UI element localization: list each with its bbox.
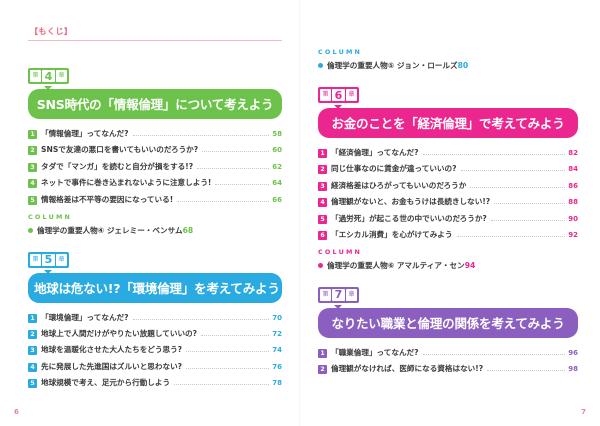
column-page: 94 — [465, 261, 476, 270]
entry-number: 4 — [318, 198, 327, 207]
chapter-badge-number: 5 — [42, 254, 55, 266]
entry-leader-dots — [461, 170, 566, 171]
entry-title: 同じ仕事なのに賃金が違っていいの? — [331, 163, 457, 174]
chapter-badge-tail — [334, 305, 342, 309]
entry-page: 66 — [272, 196, 282, 204]
entry-title: 地球を温暖化させた大人たちをどう思う? — [41, 344, 182, 355]
entry-leader-dots — [215, 184, 269, 185]
column-entry[interactable]: 倫理学の重要人物④ ジェレミー・ベンサム 68 — [28, 225, 282, 236]
toc-entry[interactable]: 5 「過労死」が起こる世の中でいいのだろうか? 90 — [318, 213, 578, 224]
entry-number: 1 — [318, 149, 327, 158]
entry-leader-dots — [186, 368, 269, 369]
entry-title: SNSで友達の悪口を書いてもいいのだろうか? — [41, 144, 198, 155]
entry-number: 5 — [318, 215, 327, 224]
entry-title: ネットで事件に巻き込まれないように注意しよう! — [41, 177, 211, 188]
entry-page: 62 — [272, 163, 282, 171]
chapter-badge-6: 第 6 章 — [318, 81, 359, 105]
column-title: 倫理学の重要人物⑤ ジョン・ロールズ — [327, 60, 458, 71]
column-bullet-icon — [28, 228, 33, 233]
entry-title: 「職業倫理」ってなんだ? — [331, 347, 419, 358]
entry-page: 84 — [568, 165, 578, 173]
entry-number: 1 — [318, 349, 327, 358]
chapter-badge-number: 6 — [332, 89, 345, 101]
entry-leader-dots — [423, 354, 566, 355]
column-page: 68 — [183, 226, 194, 235]
chapter-badge-suffix: 章 — [56, 254, 67, 266]
entry-number: 4 — [28, 179, 37, 188]
entry-page: 92 — [568, 231, 578, 239]
entry-title: 地球規模で考え、足元から行動しよう — [41, 377, 170, 388]
entry-title: 「過労死」が起こる世の中でいいのだろうか? — [331, 213, 487, 224]
toc-entry[interactable]: 1 「環境倫理」ってなんだ? 70 — [28, 312, 282, 323]
chapter-entries-7: 1 「職業倫理」ってなんだ? 96 2 倫理観がなければ、医師になる資格はない!… — [318, 347, 578, 374]
column-label: COLUMN — [318, 248, 578, 256]
entry-title: 情報格差は不平等の要因になっている! — [41, 194, 173, 205]
entry-number: 6 — [318, 231, 327, 240]
entry-page: 58 — [272, 130, 282, 138]
entry-title: 「経済倫理」ってなんだ? — [331, 147, 419, 158]
chapter-badge-4: 第 4 章 — [28, 62, 69, 86]
chapter-badge-inner-7: 第 7 章 — [318, 287, 359, 303]
entry-title: 「情報倫理」ってなんだ? — [41, 128, 129, 139]
entry-page: 96 — [568, 349, 578, 357]
top-column-block: COLUMN 倫理学の重要人物⑤ ジョン・ロールズ 80 — [318, 48, 578, 71]
chapter-badge-prefix: 第 — [320, 289, 331, 301]
entry-page: 72 — [272, 330, 282, 338]
column-bullet-icon — [318, 63, 323, 68]
chapter-badge-inner-4: 第 4 章 — [28, 68, 69, 84]
entry-number: 2 — [318, 165, 327, 174]
chapter-entries-5: 1 「環境倫理」ってなんだ? 70 2 地球上で人間だけがやりたい放題していいの… — [28, 312, 282, 389]
chapter-badge-suffix: 章 — [56, 70, 67, 82]
entry-page: 74 — [272, 346, 282, 354]
entry-number: 2 — [318, 365, 327, 374]
entry-title: 先に発展した先進国はズルいと思わない? — [41, 361, 182, 372]
chapter-block-4: 第 4 章 SNS時代の「情報倫理」について考えよう 1 「情報倫理」ってなんだ… — [28, 62, 282, 236]
entry-leader-dots — [491, 220, 565, 221]
entry-page: 64 — [272, 179, 282, 187]
column-label: COLUMN — [28, 213, 282, 221]
column-entry[interactable]: 倫理学の重要人物⑤ ジョン・ロールズ 80 — [318, 60, 578, 71]
chapter-badge-tail — [44, 270, 52, 274]
entry-number: 2 — [28, 330, 37, 339]
entry-page: 88 — [568, 198, 578, 206]
entry-leader-dots — [202, 151, 269, 152]
chapter-block-5: 第 5 章 地球は危ない!?「環境倫理」を考えてみよう 1 「環境倫理」ってなん… — [28, 246, 282, 389]
chapter-badge-prefix: 第 — [30, 70, 41, 82]
entry-title: 経済格差はひろがってもいいのだろうか — [331, 180, 466, 191]
entry-leader-dots — [197, 168, 269, 169]
chapter-badge-5: 第 5 章 — [28, 246, 69, 270]
column-title: 倫理学の重要人物④ ジェレミー・ベンサム — [37, 225, 183, 236]
entry-title: タダで「マンガ」を読むと自分が損をする!? — [41, 161, 193, 172]
chapter-entries-6: 1 「経済倫理」ってなんだ? 82 2 同じ仕事なのに賃金が違っていいの? 84… — [318, 147, 578, 240]
entry-page: 86 — [568, 182, 578, 190]
entry-leader-dots — [133, 319, 270, 320]
entry-leader-dots — [487, 370, 565, 371]
toc-entry[interactable]: 1 「情報倫理」ってなんだ? 58 — [28, 128, 282, 139]
column-page: 80 — [458, 61, 469, 70]
toc-entry[interactable]: 3 タダで「マンガ」を読むと自分が損をする!? 62 — [28, 161, 282, 172]
entry-number: 5 — [28, 379, 37, 388]
entry-leader-dots — [177, 201, 269, 202]
chapter-badge-tail — [44, 86, 52, 90]
entry-leader-dots — [174, 384, 269, 385]
toc-entry[interactable]: 6 「エシカル消費」を心がけてみよう 92 — [318, 229, 578, 240]
chapter-title-7: なりたい職業と倫理の関係を考えてみよう — [318, 308, 578, 338]
page-gutter — [299, 0, 301, 426]
entry-leader-dots — [201, 335, 269, 336]
chapter-badge-prefix: 第 — [30, 254, 41, 266]
chapter-title-6: お金のことを「経済倫理」で考えてみよう — [318, 108, 578, 138]
chapter-badge-prefix: 第 — [320, 89, 331, 101]
entry-leader-dots — [186, 351, 269, 352]
chapter-badge-7: 第 7 章 — [318, 281, 359, 305]
toc-entry[interactable]: 3 地球を温暖化させた大人たちをどう思う? 74 — [28, 344, 282, 355]
entry-number: 1 — [28, 130, 37, 139]
chapter-entries-4: 1 「情報倫理」ってなんだ? 58 2 SNSで友達の悪口を書いてもいいのだろう… — [28, 128, 282, 205]
toc-entry[interactable]: 2 SNSで友達の悪口を書いてもいいのだろうか? 60 — [28, 144, 282, 155]
entry-page: 70 — [272, 314, 282, 322]
chapter-block-6: 第 6 章 お金のことを「経済倫理」で考えてみよう 1 「経済倫理」ってなんだ?… — [318, 81, 578, 271]
toc-entry[interactable]: 2 地球上で人間だけがやりたい放題していいの? 72 — [28, 328, 282, 339]
entry-leader-dots — [423, 154, 566, 155]
entry-number: 3 — [318, 182, 327, 191]
chapter-title-4: SNS時代の「情報倫理」について考えよう — [28, 89, 282, 119]
toc-entry[interactable]: 5 情報格差は不平等の要因になっている! 66 — [28, 194, 282, 205]
toc-entry[interactable]: 4 先に発展した先進国はズルいと思わない? 76 — [28, 361, 282, 372]
toc-entry[interactable]: 4 ネットで事件に巻き込まれないように注意しよう! 64 — [28, 177, 282, 188]
toc-entry[interactable]: 1 「経済倫理」ってなんだ? 82 — [318, 147, 578, 158]
column-title: 倫理学の重要人物⑥ アマルティア・セン — [327, 260, 465, 271]
toc-entry[interactable]: 5 地球規模で考え、足元から行動しよう 78 — [28, 377, 282, 388]
column-label: COLUMN — [318, 48, 578, 56]
entry-page: 90 — [568, 215, 578, 223]
chapter-title-5: 地球は危ない!?「環境倫理」を考えてみよう — [28, 273, 282, 303]
chapter-badge-suffix: 章 — [346, 89, 357, 101]
toc-spread: 【もくじ】 第 4 章 SNS時代の「情報倫理」について考えよう 1 「情報倫理… — [0, 0, 600, 426]
column-bullet-icon — [318, 263, 323, 268]
entry-title: 「エシカル消費」を心がけてみよう — [331, 229, 453, 240]
toc-entry[interactable]: 3 経済格差はひろがってもいいのだろうか 86 — [318, 180, 578, 191]
entry-number: 4 — [28, 363, 37, 372]
page-left: 【もくじ】 第 4 章 SNS時代の「情報倫理」について考えよう 1 「情報倫理… — [0, 0, 300, 426]
entry-leader-dots — [133, 135, 270, 136]
chapter-badge-number: 7 — [332, 289, 345, 301]
page-folio-right: 7 — [581, 408, 586, 416]
toc-header-label: 【もくじ】 — [28, 26, 282, 37]
toc-entry[interactable]: 1 「職業倫理」ってなんだ? 96 — [318, 347, 578, 358]
entry-page: 98 — [568, 365, 578, 373]
column-entry[interactable]: 倫理学の重要人物⑥ アマルティア・セン 94 — [318, 260, 578, 271]
entry-leader-dots — [470, 187, 565, 188]
chapter-badge-inner-5: 第 5 章 — [28, 252, 69, 268]
entry-page: 78 — [272, 379, 282, 387]
entry-title: 倫理観がなければ、医師になる資格はない!? — [331, 363, 483, 374]
toc-entry[interactable]: 4 倫理観がないと、お金もうけは長続きしない!? 88 — [318, 196, 578, 207]
entry-leader-dots — [494, 203, 565, 204]
page-right: COLUMN 倫理学の重要人物⑤ ジョン・ロールズ 80 第 6 章 お金のこと… — [300, 0, 600, 426]
entry-page: 60 — [272, 146, 282, 154]
entry-page: 76 — [272, 363, 282, 371]
entry-page: 82 — [568, 149, 578, 157]
entry-title: 「環境倫理」ってなんだ? — [41, 312, 129, 323]
entry-title: 倫理観がないと、お金もうけは長続きしない!? — [331, 196, 490, 207]
chapter-block-7: 第 7 章 なりたい職業と倫理の関係を考えてみよう 1 「職業倫理」ってなんだ?… — [318, 281, 578, 374]
page-folio-left: 6 — [14, 408, 19, 416]
entry-title: 地球上で人間だけがやりたい放題していいの? — [41, 328, 197, 339]
toc-entry[interactable]: 2 同じ仕事なのに賃金が違っていいの? 84 — [318, 163, 578, 174]
entry-leader-dots — [457, 236, 566, 237]
chapter-badge-suffix: 章 — [346, 289, 357, 301]
entry-number: 2 — [28, 146, 37, 155]
chapter-badge-inner-6: 第 6 章 — [318, 87, 359, 103]
chapter-badge-number: 4 — [42, 70, 55, 82]
entry-number: 1 — [28, 314, 37, 323]
entry-number: 5 — [28, 196, 37, 205]
chapter-badge-tail — [334, 105, 342, 109]
toc-header-rule — [28, 40, 282, 41]
toc-entry[interactable]: 2 倫理観がなければ、医師になる資格はない!? 98 — [318, 363, 578, 374]
entry-number: 3 — [28, 346, 37, 355]
entry-number: 3 — [28, 163, 37, 172]
